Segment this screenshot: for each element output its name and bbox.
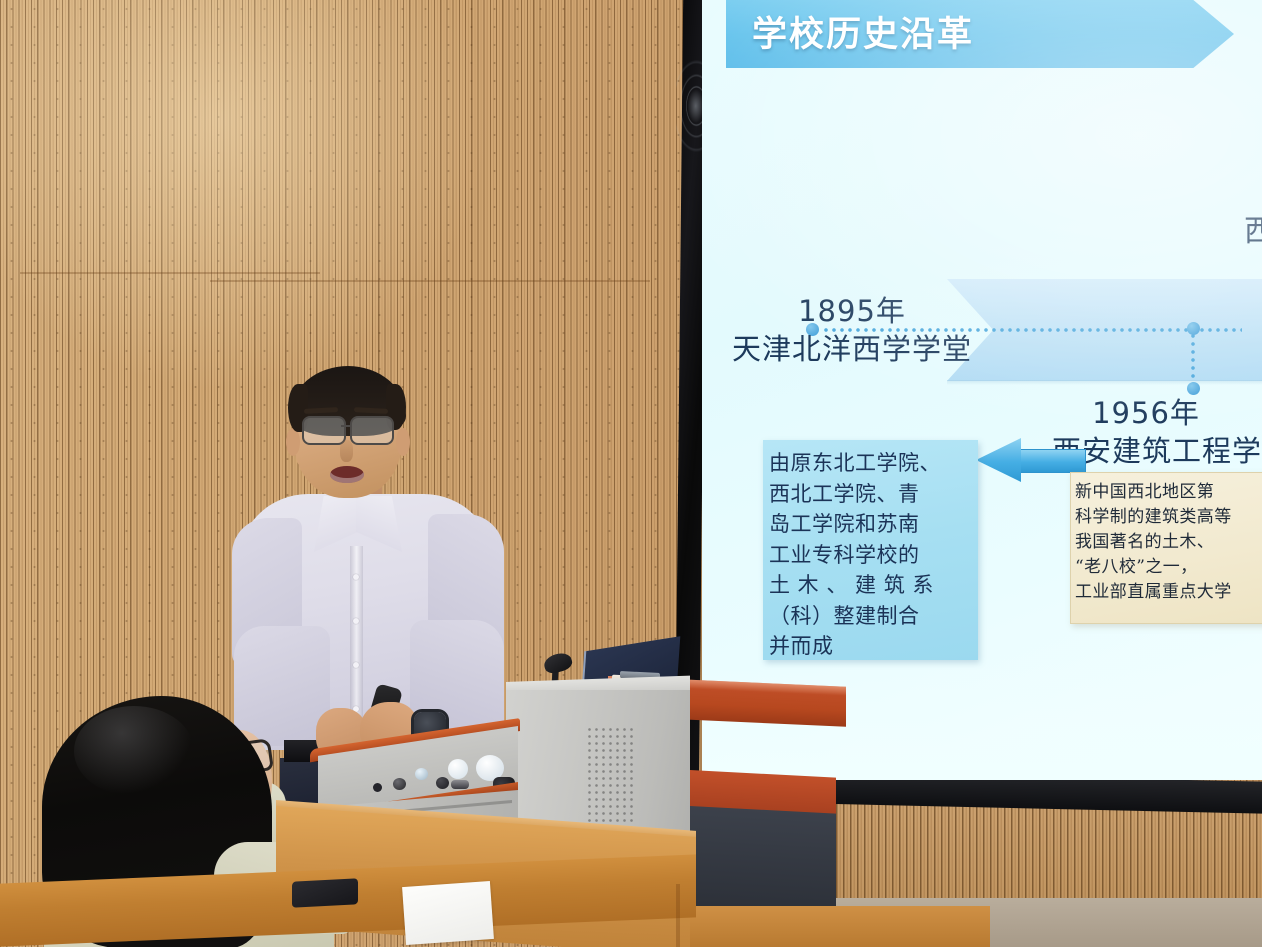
wall-panel-seam xyxy=(20,272,320,274)
desk-seam xyxy=(676,884,680,947)
photo-scene: 学校历史沿革 1895年 天津北洋西学学堂 1956年 西安建筑工程学 西 xyxy=(0,0,1262,947)
attendee-hair-highlight xyxy=(74,706,194,796)
shirt-button xyxy=(353,574,359,580)
wall-light-glow xyxy=(0,0,500,400)
shirt-button xyxy=(353,618,359,624)
lectern-slot[interactable] xyxy=(451,780,469,789)
lectern-button-large[interactable] xyxy=(448,759,468,779)
presenter-ear-left xyxy=(286,428,300,456)
presenter-mouth xyxy=(330,466,364,483)
glasses-lens-right-icon xyxy=(350,416,394,445)
glasses-lens-left-icon xyxy=(302,416,346,445)
glasses-bridge xyxy=(341,425,351,427)
presenter-nose xyxy=(340,440,353,462)
paper-sheet-on-desk xyxy=(402,881,494,945)
desk-right-rail xyxy=(690,906,990,947)
projection-screen: 学校历史沿革 1895年 天津北洋西学学堂 1956年 西安建筑工程学 西 xyxy=(702,0,1262,780)
shirt-button xyxy=(353,662,359,668)
smartphone-on-desk[interactable] xyxy=(292,878,358,907)
wall-panel-seam xyxy=(210,280,650,282)
presenter-ear-right xyxy=(396,428,410,456)
